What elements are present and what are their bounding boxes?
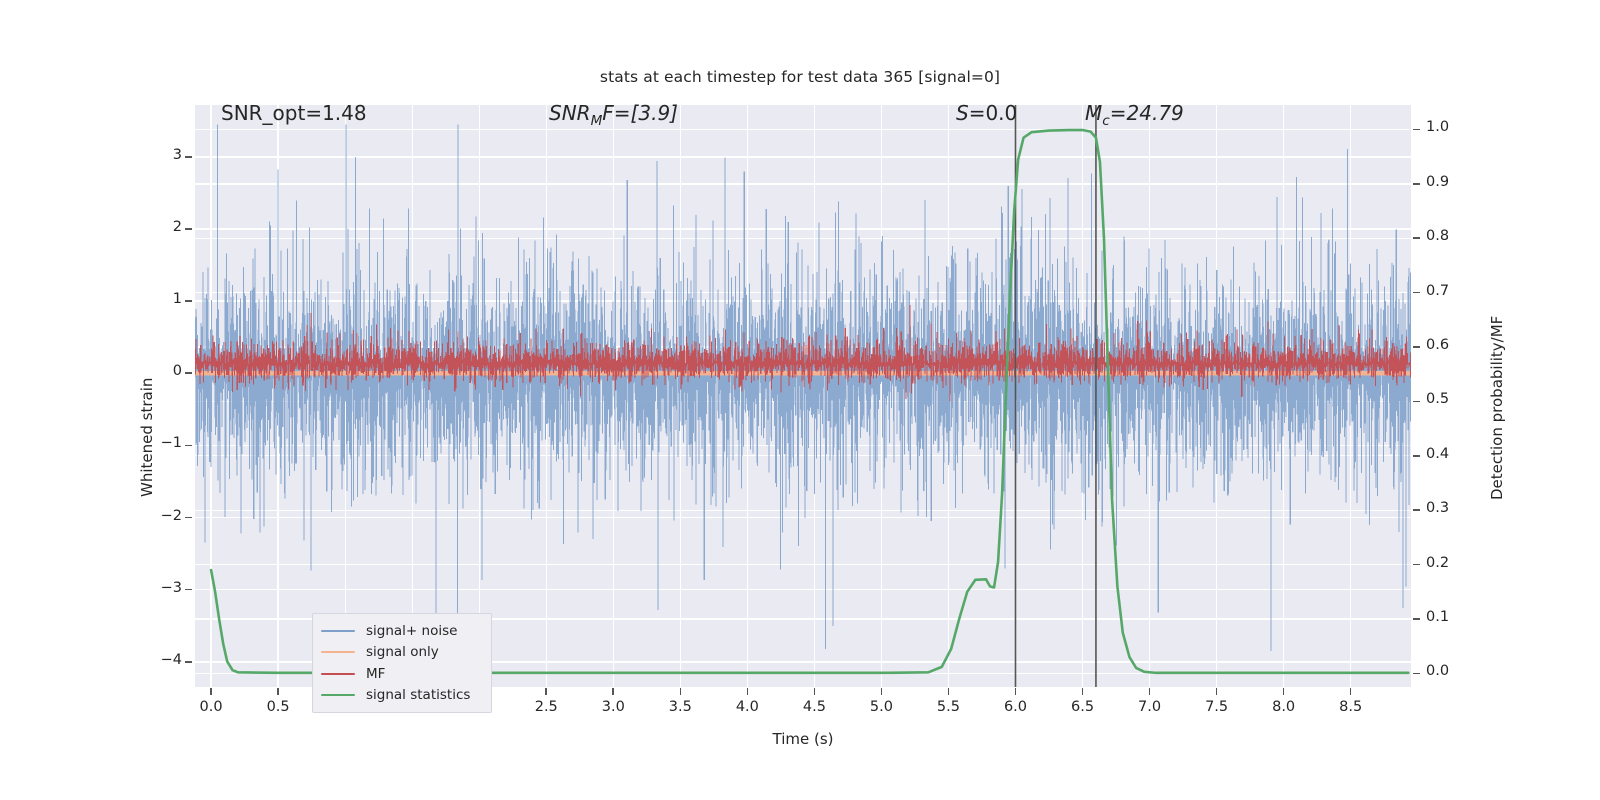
tick-label-left-4: −1: [161, 435, 182, 451]
tick-mark-left-2: [185, 300, 192, 302]
tick-label-left-1: 2: [173, 219, 182, 235]
tick-mark-left-4: [185, 445, 192, 447]
tick-mark-right-5: [1413, 401, 1420, 403]
tick-mark-right-10: [1413, 673, 1420, 675]
tick-label-left-3: 0: [173, 363, 182, 379]
tick-label-right-5: 0.5: [1426, 391, 1449, 407]
tick-label-x-13: 6.5: [1071, 699, 1094, 715]
legend-label: MF: [366, 666, 385, 682]
signal-statistics-curve: [211, 130, 1408, 673]
tick-label-x-5: 2.5: [535, 699, 558, 715]
legend-label: signal+ noise: [366, 623, 457, 639]
legend-label: signal only: [366, 644, 439, 660]
tick-label-left-6: −3: [161, 580, 182, 596]
tick-label-right-9: 0.1: [1426, 609, 1449, 625]
chart-legend: signal+ noisesignal onlyMFsignal statist…: [312, 613, 492, 713]
tick-mark-x-14: [1149, 688, 1151, 695]
tick-mark-x-9: [814, 688, 816, 695]
legend-item-signal-statistics[interactable]: signal statistics: [321, 685, 483, 707]
tick-label-x-16: 8.0: [1272, 699, 1295, 715]
tick-label-right-10: 0.0: [1426, 663, 1449, 679]
tick-mark-x-13: [1082, 688, 1084, 695]
tick-mark-right-0: [1413, 129, 1420, 131]
tick-mark-left-1: [185, 228, 192, 230]
tick-label-left-5: −2: [161, 508, 182, 524]
tick-mark-x-16: [1283, 688, 1285, 695]
tick-mark-left-5: [185, 517, 192, 519]
tick-label-right-4: 0.6: [1426, 337, 1449, 353]
tick-mark-x-5: [545, 688, 547, 695]
tick-mark-right-7: [1413, 509, 1420, 511]
tick-mark-x-0: [210, 688, 212, 695]
snr-opt-annotation: SNR_opt=1.48: [221, 101, 367, 125]
tick-label-right-8: 0.2: [1426, 555, 1449, 571]
tick-label-x-7: 3.5: [669, 699, 692, 715]
legend-item-signal-only[interactable]: signal only: [321, 642, 483, 664]
tick-mark-right-6: [1413, 455, 1420, 457]
mc-annotation: Mc=24.79: [1085, 101, 1184, 129]
tick-label-x-12: 6.0: [1004, 699, 1027, 715]
series-signal-statistics: [195, 105, 1411, 687]
plot-area: [195, 105, 1411, 687]
tick-label-left-7: −4: [161, 652, 182, 668]
tick-label-x-17: 8.5: [1339, 699, 1362, 715]
tick-mark-x-15: [1216, 688, 1218, 695]
tick-mark-x-8: [747, 688, 749, 695]
tick-mark-right-9: [1413, 618, 1420, 620]
tick-mark-right-3: [1413, 292, 1420, 294]
legend-item-mf[interactable]: MF: [321, 663, 483, 685]
tick-mark-x-17: [1350, 688, 1352, 695]
tick-label-x-1: 0.5: [267, 699, 290, 715]
tick-mark-x-7: [680, 688, 682, 695]
tick-label-x-6: 3.0: [602, 699, 625, 715]
tick-label-x-15: 7.5: [1205, 699, 1228, 715]
legend-label: signal statistics: [366, 687, 470, 703]
x-axis-label: Time (s): [195, 730, 1411, 748]
tick-label-right-0: 1.0: [1426, 119, 1449, 135]
tick-mark-right-2: [1413, 237, 1420, 239]
snr-mf-annotation: SNRMF=[3.9]: [549, 101, 678, 129]
tick-mark-x-10: [881, 688, 883, 695]
tick-mark-x-12: [1015, 688, 1017, 695]
tick-mark-right-4: [1413, 346, 1420, 348]
tick-mark-left-7: [185, 661, 192, 663]
legend-swatch-icon: [321, 630, 355, 632]
tick-label-x-0: 0.0: [200, 699, 223, 715]
tick-label-right-6: 0.4: [1426, 446, 1449, 462]
y-axis-label-left: Whitened strain: [138, 378, 156, 497]
matplotlib-figure: stats at each timestep for test data 365…: [0, 0, 1600, 800]
legend-swatch-icon: [321, 651, 355, 653]
tick-label-x-10: 5.0: [870, 699, 893, 715]
tick-label-x-9: 4.5: [803, 699, 826, 715]
tick-label-right-3: 0.7: [1426, 283, 1449, 299]
tick-label-left-2: 1: [173, 291, 182, 307]
y-axis-label-right: Detection probability/MF: [1488, 316, 1506, 500]
tick-label-right-2: 0.8: [1426, 228, 1449, 244]
legend-item-signal-noise[interactable]: signal+ noise: [321, 620, 483, 642]
tick-mark-x-6: [612, 688, 614, 695]
tick-mark-x-11: [948, 688, 950, 695]
tick-mark-right-1: [1413, 183, 1420, 185]
tick-label-right-7: 0.3: [1426, 500, 1449, 516]
tick-mark-left-0: [185, 156, 192, 158]
tick-mark-left-6: [185, 589, 192, 591]
tick-label-x-11: 5.5: [937, 699, 960, 715]
tick-mark-x-1: [277, 688, 279, 695]
tick-label-x-8: 4.0: [736, 699, 759, 715]
s-annotation: S=0.0: [956, 101, 1017, 125]
chart-title: stats at each timestep for test data 365…: [0, 68, 1600, 86]
legend-swatch-icon: [321, 673, 355, 675]
tick-label-left-0: 3: [173, 147, 182, 163]
tick-mark-right-8: [1413, 564, 1420, 566]
tick-label-x-14: 7.0: [1138, 699, 1161, 715]
tick-label-right-1: 0.9: [1426, 174, 1449, 190]
tick-mark-left-3: [185, 372, 192, 374]
legend-swatch-icon: [321, 694, 355, 696]
